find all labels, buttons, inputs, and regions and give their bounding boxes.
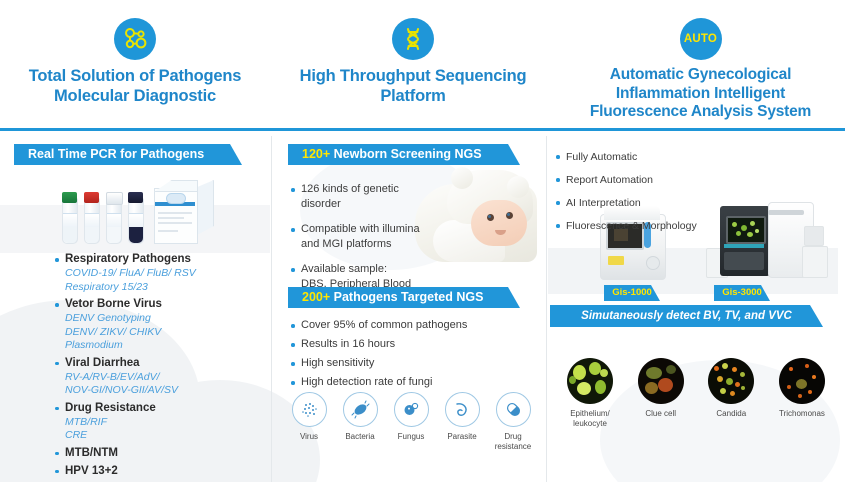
- reagent-tube-red: [84, 198, 100, 244]
- newborn-feature-list: 126 kinds of genetic disorder Compatible…: [290, 182, 420, 294]
- cell-epithelium-leukocyte: Epithelium/ leukocyte: [558, 358, 622, 428]
- gis-3000-tag: Gis-3000: [714, 285, 770, 301]
- header-title-3-line1: Automatic Gynecological: [556, 66, 845, 85]
- list-item: High sensitivity: [290, 356, 530, 371]
- cell-label: Epithelium/ leukocyte: [558, 409, 622, 428]
- banner-label: Simutaneously detect BV, TV, and VVC: [581, 310, 792, 322]
- list-item-sub: Plasmodium: [65, 339, 196, 353]
- icon-cell-bacteria: Bacteria: [337, 392, 383, 452]
- baby-eye: [506, 212, 513, 219]
- cell-label: Candida: [699, 409, 763, 419]
- reagent-tube-green: [62, 198, 78, 244]
- auto-badge-icon: AUTO: [680, 18, 722, 60]
- icon-label: Bacteria: [337, 432, 383, 442]
- feature-item: AI Interpretation: [556, 196, 674, 210]
- header-title-2-line2: Platform: [273, 86, 553, 106]
- column-divider-right: [546, 136, 547, 482]
- poster-root: Total Solution of Pathogens Molecular Di…: [0, 0, 845, 482]
- list-item-title: HPV 13+2: [65, 464, 196, 479]
- icon-cell-fungus: Fungus: [388, 392, 434, 452]
- banner-label: Real Time PCR for Pathogens: [14, 144, 204, 165]
- list-item: Compatible with illumina and MGI platfor…: [290, 222, 420, 252]
- list-item: Viral Diarrhea RV-A/RV-B/EV/AdV/ NOV-GI/…: [54, 356, 196, 398]
- dna-helix-icon: [392, 18, 434, 60]
- list-item-sub: CRE: [65, 429, 196, 443]
- gis-1000-tag-label: Gis-1000: [612, 287, 652, 298]
- pcr-kit-box: [154, 180, 212, 242]
- targeted-ngs-feature-list: Cover 95% of common pathogens Results in…: [290, 318, 530, 392]
- feature-item: Report Automation: [556, 173, 736, 187]
- feature-item: Fully Automatic: [556, 150, 674, 164]
- list-item-sub: MTB/RIF: [65, 416, 196, 430]
- header: Total Solution of Pathogens Molecular Di…: [0, 0, 845, 128]
- list-item-text: Compatible with illumina and MGI platfor…: [301, 222, 420, 252]
- cell-label: Trichomonas: [770, 409, 834, 419]
- list-item: 126 kinds of genetic disorder: [290, 182, 420, 212]
- pathogen-category-icons: Virus Bacteria: [286, 392, 536, 452]
- column-divider-left: [271, 136, 272, 482]
- list-item-title: Drug Resistance: [65, 401, 196, 416]
- icon-label: Drug resistance: [490, 432, 536, 452]
- bacteria-icon: [343, 392, 378, 427]
- header-divider: [0, 128, 845, 131]
- header-column-1: Total Solution of Pathogens Molecular Di…: [0, 0, 270, 106]
- fluorescence-clue-cell: [638, 358, 684, 404]
- icon-cell-parasite: Parasite: [439, 392, 485, 452]
- banner-number: 200+: [302, 290, 330, 304]
- header-title-3-line2: Inflammation Intelligent: [556, 85, 845, 104]
- list-item-title: Respiratory Pathogens: [65, 252, 196, 267]
- parasite-icon: [445, 392, 480, 427]
- feature-item: Fluorescence & Morphology: [556, 219, 736, 233]
- list-item-text: 126 kinds of genetic disorder: [301, 182, 420, 212]
- icon-cell-drug-resistance: Drug resistance: [490, 392, 536, 452]
- header-title-2-line1: High Throughput Sequencing: [273, 66, 553, 86]
- header-title-1-line1: Total Solution of Pathogens: [0, 66, 270, 86]
- list-item: Cover 95% of common pathogens: [290, 318, 530, 333]
- list-item-text: High detection rate of fungi: [301, 375, 530, 390]
- drug-capsule-icon: [496, 392, 531, 427]
- fluorescence-candida: [708, 358, 754, 404]
- list-item-sub: Respiratory 15/23: [65, 281, 196, 295]
- fluorescence-cell-gallery: Epithelium/ leukocyte Clue cell: [558, 358, 834, 428]
- gis-3000-tag-label: Gis-3000: [722, 287, 762, 298]
- cell-clue-cell: Clue cell: [629, 358, 693, 428]
- header-title-1-line2: Molecular Diagnostic: [0, 86, 270, 106]
- virus-icon: [292, 392, 327, 427]
- banner-label: Pathogens Targeted NGS: [330, 290, 483, 304]
- cell-candida: Candida: [699, 358, 763, 428]
- icon-label: Virus: [286, 432, 332, 442]
- list-item: MTB/NTM: [54, 446, 196, 461]
- banner-simultaneous-detect: Simutaneously detect BV, TV, and VVC: [550, 305, 823, 327]
- icon-label: Parasite: [439, 432, 485, 442]
- cell-trichomonas: Trichomonas: [770, 358, 834, 428]
- list-item-sub: DENV/ ZIKV/ CHIKV: [65, 326, 196, 340]
- list-item-text: High sensitivity: [301, 356, 530, 371]
- list-item-title: Viral Diarrhea: [65, 356, 196, 371]
- list-item-title: MTB/NTM: [65, 446, 196, 461]
- banner-label: Newborn Screening NGS: [330, 147, 481, 161]
- list-item-sub: COVID-19/ FluA/ FluB/ RSV: [65, 267, 196, 281]
- baby-eye: [487, 214, 494, 221]
- banner-real-time-pcr: Real Time PCR for Pathogens: [14, 144, 242, 165]
- list-item-text: Results in 16 hours: [301, 337, 530, 352]
- list-item-title: Vetor Borne Virus: [65, 297, 196, 312]
- auto-badge-text: AUTO: [684, 33, 717, 45]
- list-item: Drug Resistance MTB/RIF CRE: [54, 401, 196, 443]
- pcr-product-image: [62, 178, 217, 250]
- list-item-text: Cover 95% of common pathogens: [301, 318, 530, 333]
- list-item-sub: DENV Genotyping: [65, 312, 196, 326]
- gis-1000-tag: Gis-1000: [604, 285, 660, 301]
- banner-newborn-screening: 120+ Newborn Screening NGS: [288, 144, 520, 165]
- header-title-3-line3: Fluorescence Analysis System: [556, 103, 845, 122]
- list-item-sub: RV-A/RV-B/EV/AdV/: [65, 371, 196, 385]
- molecule-network-icon: [114, 18, 156, 60]
- list-item: High detection rate of fungi: [290, 375, 530, 390]
- list-item: HPV 13+2: [54, 464, 196, 479]
- list-item: Results in 16 hours: [290, 337, 530, 352]
- reagent-tube-clear: [106, 198, 122, 244]
- newborn-baby-photo: [415, 170, 537, 262]
- header-column-3: AUTO Automatic Gynecological Inflammatio…: [556, 0, 845, 122]
- gis-feature-list: Fully Automatic Report Automation AI Int…: [556, 150, 841, 242]
- cell-label: Clue cell: [629, 409, 693, 419]
- reagent-tube-navy: [128, 198, 144, 244]
- banner-pathogens-targeted: 200+ Pathogens Targeted NGS: [288, 287, 520, 308]
- fungus-icon: [394, 392, 429, 427]
- list-item: Vetor Borne Virus DENV Genotyping DENV/ …: [54, 297, 196, 353]
- list-item: Respiratory Pathogens COVID-19/ FluA/ Fl…: [54, 252, 196, 294]
- list-item-sub: NOV-GI/NOV-GII/AV/SV: [65, 384, 196, 398]
- fluorescence-trichomonas: [779, 358, 825, 404]
- banner-number: 120+: [302, 147, 330, 161]
- icon-cell-virus: Virus: [286, 392, 332, 452]
- header-column-2: High Throughput Sequencing Platform: [273, 0, 553, 106]
- fluorescence-epithelium-leukocyte: [567, 358, 613, 404]
- icon-label: Fungus: [388, 432, 434, 442]
- pcr-pathogen-list: Respiratory Pathogens COVID-19/ FluA/ Fl…: [54, 252, 196, 482]
